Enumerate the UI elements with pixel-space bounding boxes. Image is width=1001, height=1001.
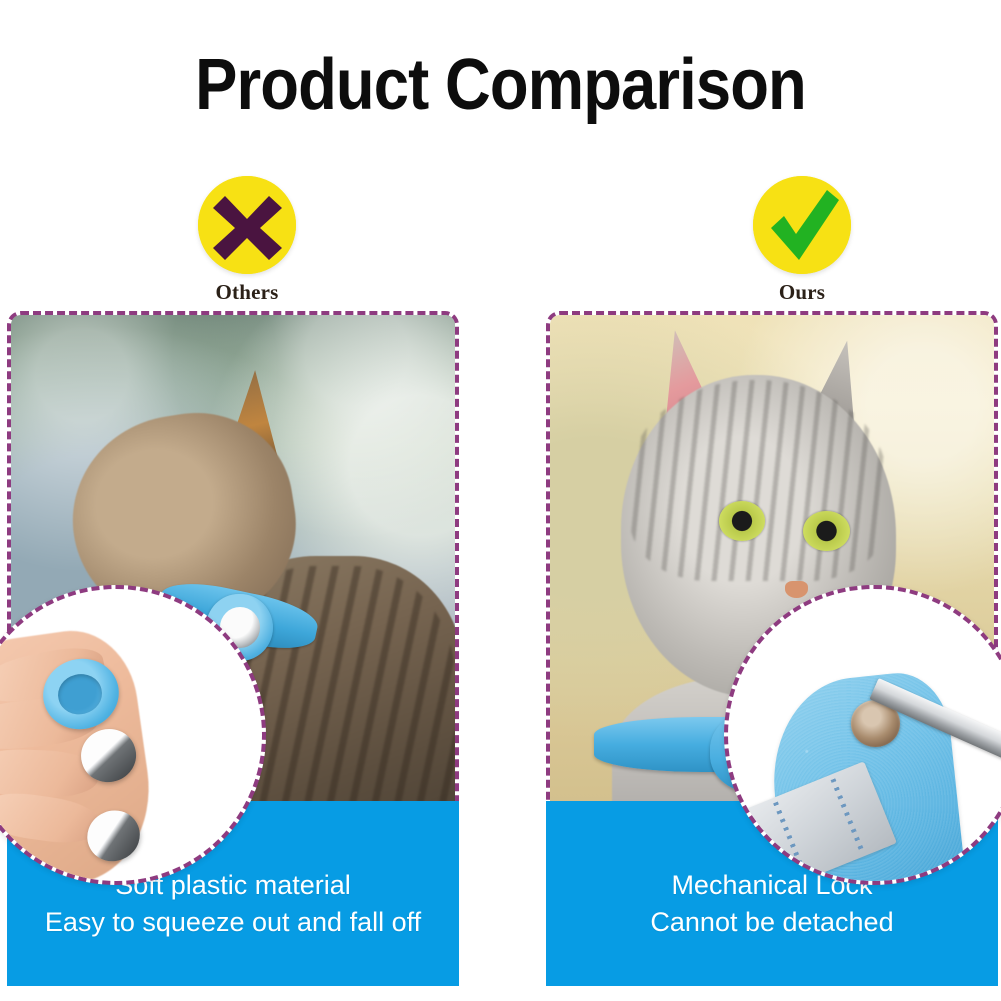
cat-stripes-shape — [630, 380, 888, 581]
page-title: Product Comparison — [60, 44, 941, 126]
caption-others-line2: Easy to squeeze out and fall off — [45, 904, 421, 941]
badge-ours-label: Ours — [707, 280, 897, 305]
badge-others: Others — [152, 176, 342, 305]
product-comparison-infographic: Product Comparison Others Ours — [0, 0, 1001, 1001]
check-mark-icon — [753, 176, 851, 274]
cross-mark-icon — [198, 176, 296, 274]
caption-ours-line2: Cannot be detached — [650, 904, 893, 941]
cat-eye-left-shape — [719, 501, 766, 541]
badge-ours: Ours — [707, 176, 897, 305]
cat-nose-shape — [785, 581, 807, 598]
badge-others-label: Others — [152, 280, 342, 305]
inset-detail-ours — [724, 585, 1001, 885]
cat-eye-right-shape — [803, 511, 850, 551]
